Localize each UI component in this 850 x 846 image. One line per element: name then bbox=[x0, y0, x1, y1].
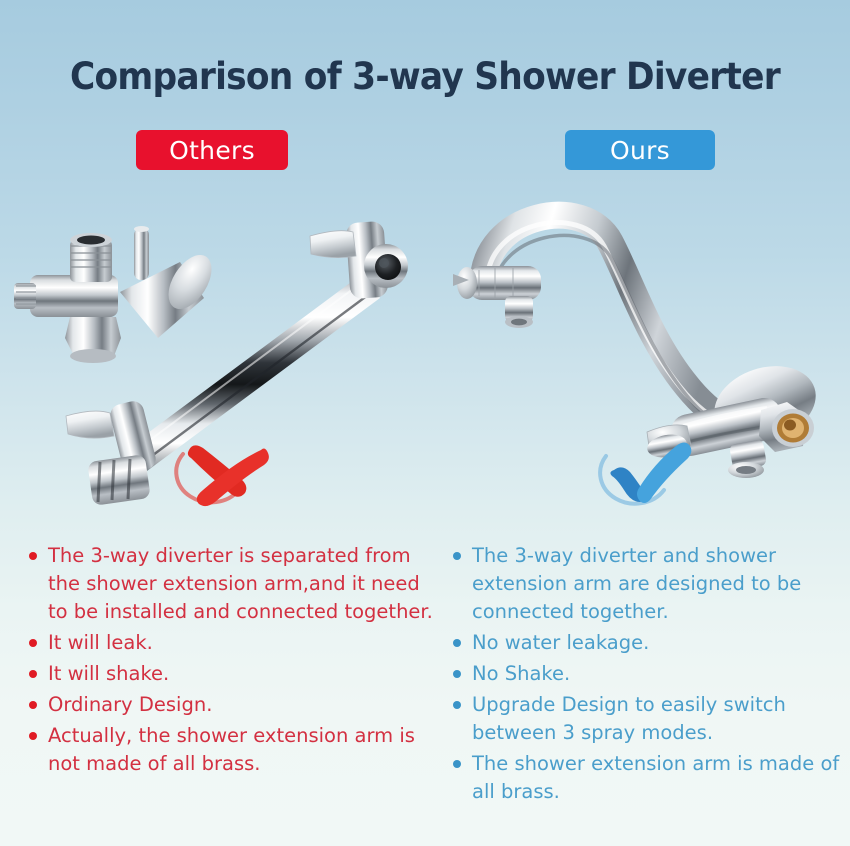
upper-outlet-fitting bbox=[453, 266, 541, 328]
list-item: The 3-way diverter is separated from the… bbox=[26, 542, 436, 626]
diverter-valve-body bbox=[14, 226, 220, 363]
list-item: Upgrade Design to easily switch between … bbox=[450, 691, 850, 747]
list-item: The 3-way diverter and shower extension … bbox=[450, 542, 850, 626]
bullet-list-ours: The 3-way diverter and shower extension … bbox=[450, 542, 850, 809]
list-item: Ordinary Design. bbox=[26, 691, 436, 719]
badge-others-label: Others bbox=[169, 136, 255, 165]
badge-ours: Ours bbox=[565, 130, 715, 170]
arm-lever-lower bbox=[66, 411, 114, 438]
blue-check-icon bbox=[592, 430, 702, 510]
list-item: It will shake. bbox=[26, 660, 436, 688]
red-cross-icon bbox=[165, 432, 275, 512]
list-item: No Shake. bbox=[450, 660, 850, 688]
list-item: It will leak. bbox=[26, 629, 436, 657]
list-item: The shower extension arm is made of all … bbox=[450, 750, 850, 806]
arm-lever-upper bbox=[310, 231, 356, 258]
arm-joint-lower bbox=[66, 399, 158, 506]
comparison-infographic: Comparison of 3-way Shower Diverter Othe… bbox=[0, 0, 850, 846]
bullet-list-others: The 3-way diverter is separated from the… bbox=[26, 542, 436, 781]
badge-ours-label: Ours bbox=[610, 136, 670, 165]
arm-joint-upper bbox=[310, 221, 408, 299]
page-title: Comparison of 3-way Shower Diverter bbox=[30, 55, 821, 98]
badge-others: Others bbox=[136, 130, 288, 170]
list-item: Actually, the shower extension arm is no… bbox=[26, 722, 436, 778]
list-item: No water leakage. bbox=[450, 629, 850, 657]
